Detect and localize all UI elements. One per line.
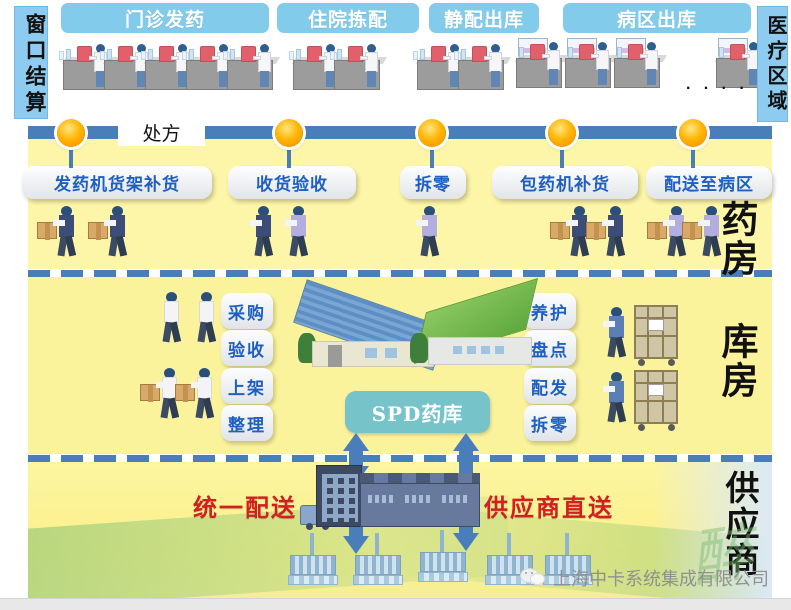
clerk-desk-icon (458, 42, 516, 94)
clerk-desk-icon (227, 42, 285, 94)
zone-title-storeroom: 库房 (718, 322, 755, 400)
step-deliver-to-ward[interactable]: 配送至病区 (646, 166, 772, 199)
stack-label: 采购 (228, 299, 266, 324)
tab-outpatient-dispensing[interactable]: 门诊发药 (61, 3, 269, 33)
pharmacist-icon (287, 206, 313, 258)
worker-icon (252, 206, 278, 258)
stack-label: 验收 (228, 336, 266, 361)
orange-node-icon-2[interactable] (275, 119, 303, 147)
side-label-medical-zone: 医疗区域 (757, 6, 788, 122)
pharmacy-storeroom-divider (28, 270, 772, 277)
orange-node-icon-4[interactable] (548, 119, 576, 147)
stack-label: 盘点 (531, 336, 569, 361)
warehouse-building-icon (300, 297, 530, 377)
tab-ward-outbound[interactable]: 病区出库 (563, 3, 751, 33)
pill-label: 发药机货架补货 (54, 170, 180, 195)
watermark-text: 上海中卡系统集成有限公司 (553, 565, 769, 591)
arrow-up-head (453, 433, 479, 451)
more-workstations-ellipsis: · · · · · (686, 80, 766, 98)
stack-label: 养护 (531, 299, 569, 324)
staff-standing-icon (160, 292, 186, 344)
tab-label: 病区出库 (617, 5, 697, 32)
staff-carrying-box-icon (193, 368, 219, 420)
pharmacy-band (28, 139, 772, 269)
wechat-icon (520, 568, 546, 588)
factory-icon (290, 545, 338, 589)
orange-node-icon-5[interactable] (679, 119, 707, 147)
storeroom-supplier-divider (28, 455, 772, 462)
tab-inpatient-picking[interactable]: 住院拣配 (277, 3, 419, 33)
pill-label: 收货验收 (256, 170, 328, 195)
pill-label: 拆零 (415, 170, 451, 195)
worker-carrying-box-icon (55, 206, 81, 258)
node-stem (69, 144, 73, 168)
stack-shelving[interactable]: 上架 (221, 368, 273, 404)
worker-pushing-cart-icon (605, 372, 631, 424)
staff-standing-icon (195, 292, 221, 344)
label-supplier-direct-delivery: 供应商直送 (484, 488, 614, 523)
node-stem (430, 144, 434, 168)
step-goods-receipt-inspection[interactable]: 收货验收 (228, 166, 356, 199)
stack-label: 整理 (228, 411, 266, 436)
side-label-window-settlement: 窗口结算 (14, 6, 48, 119)
tab-label: 静配出库 (444, 5, 524, 32)
worker-carrying-box-icon (604, 206, 630, 258)
stack-label: 配发 (531, 374, 569, 399)
spd-label: SPD药库 (372, 398, 464, 427)
spd-pharmacy-warehouse-box[interactable]: SPD药库 (345, 391, 490, 433)
goods-cart-icon (634, 370, 682, 432)
tab-label: 门诊发药 (125, 5, 205, 32)
step-break-bulk[interactable]: 拆零 (400, 166, 466, 199)
node-stem (560, 144, 564, 168)
stack-label: 拆零 (531, 411, 569, 436)
stack-purchase[interactable]: 采购 (221, 293, 273, 329)
zone-title-supplier: 供应商 (722, 470, 756, 578)
stack-acceptance[interactable]: 验收 (221, 330, 273, 366)
step-packing-machine-restock[interactable]: 包药机补货 (492, 166, 638, 199)
orange-node-icon-1[interactable] (57, 119, 85, 147)
factory-icon (420, 542, 468, 586)
stack-label: 上架 (228, 374, 266, 399)
tab-label: 住院拣配 (308, 5, 388, 32)
node-stem (691, 144, 695, 168)
goods-cart-icon (634, 305, 682, 367)
stack-distribution[interactable]: 配发 (524, 368, 576, 404)
medical-zone-panel: 门诊发药 住院拣配 静配出库 病区出库 (0, 0, 791, 118)
factory-icon (355, 545, 403, 589)
label-consolidated-distribution: 统一配送 (193, 488, 297, 523)
tab-iv-admixture-outbound[interactable]: 静配出库 (429, 3, 539, 33)
bottom-strip (0, 598, 791, 610)
pharmacist-icon (418, 206, 444, 258)
worker-carrying-box-icon (106, 206, 132, 258)
company-watermark: 上海中卡系统集成有限公司 (520, 565, 769, 591)
diagram-canvas: 门诊发药 住院拣配 静配出库 病区出库 (0, 0, 791, 610)
step-dispensing-machine-restock[interactable]: 发药机货架补货 (22, 166, 212, 199)
clerk-desk-icon (334, 42, 392, 94)
node-stem (287, 144, 291, 168)
worker-pushing-cart-icon (605, 307, 631, 359)
zone-title-pharmacy: 药房 (718, 200, 755, 278)
pill-label: 包药机补货 (520, 170, 610, 195)
pill-label: 配送至病区 (664, 170, 754, 195)
stack-organizing[interactable]: 整理 (221, 405, 273, 441)
stack-break-bulk[interactable]: 拆零 (524, 405, 576, 441)
workstation-screen-icon (614, 40, 672, 92)
orange-node-icon-3[interactable] (418, 119, 446, 147)
prescription-flow-label: 处方 (118, 118, 205, 146)
